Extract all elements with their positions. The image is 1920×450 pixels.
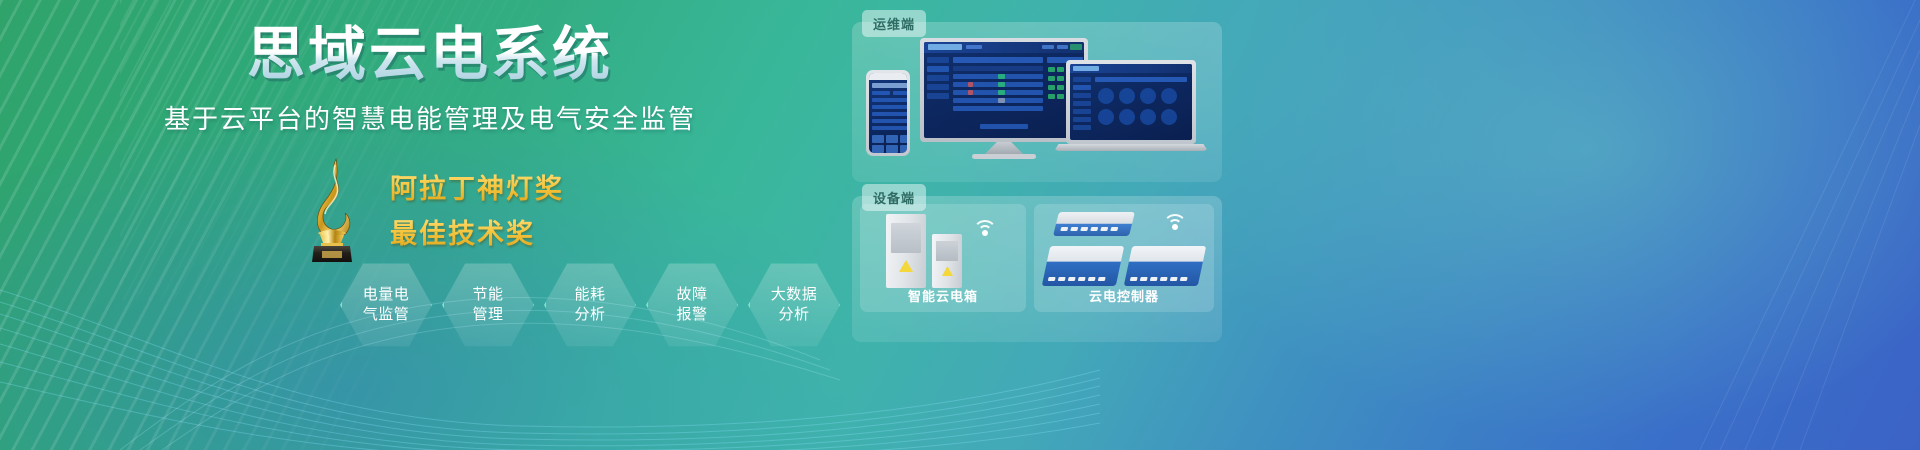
feature-3-line2: 分析 [574,306,605,323]
laptop-base [1054,144,1208,151]
feature-hexagon-3-label: 能耗 分析 [574,285,605,326]
award-line-2: 最佳技术奖 [390,212,564,251]
feature-hexagon-3[interactable]: 能耗 分析 [544,262,636,348]
monitor-mockup [920,38,1088,142]
feature-3-line1: 能耗 [574,286,605,303]
feature-4-line2: 报警 [676,306,707,323]
feature-1-line1: 电量电 [363,286,410,303]
laptop-mockup [1066,60,1196,144]
panel-device-terminal: 设备端 智能云电箱 [852,196,1222,342]
cloud-controller-unit-1 [1042,246,1125,286]
feature-hexagon-2[interactable]: 节能 管理 [442,262,534,348]
background-glow-top-right [1140,0,1920,450]
device-card-cloud-controller: 云电控制器 [1034,204,1214,312]
award-block: 阿拉丁神灯奖 最佳技术奖 [296,154,564,264]
banner-right-content: 运维端 [852,22,1224,356]
monitor-base [972,154,1036,159]
feature-hexagon-5-label: 大数据 分析 [771,285,818,326]
feature-5-line1: 大数据 [771,286,818,303]
award-text-block: 阿拉丁神灯奖 最佳技术奖 [390,167,564,251]
trophy-icon [296,155,368,263]
feature-hexagon-row: 电量电 气监管 节能 管理 能耗 分析 故障 报警 大数据 分析 [340,262,840,348]
smart-cloud-box-cabinet-small [932,234,962,288]
feature-hexagon-4[interactable]: 故障 报警 [646,262,738,348]
panel-operations-terminal: 运维端 [852,22,1222,182]
feature-2-line2: 管理 [472,306,503,323]
device-label-smart-cloud-box: 智能云电箱 [860,286,1026,305]
page-subtitle: 基于云平台的智慧电能管理及电气安全监管 [164,99,696,136]
cloud-controller-switch [1053,212,1135,236]
device-card-smart-cloud-box: 智能云电箱 [860,204,1026,312]
feature-5-line2: 分析 [778,306,809,323]
feature-1-line2: 气监管 [363,306,410,323]
feature-2-line1: 节能 [472,286,503,303]
award-line-1: 阿拉丁神灯奖 [390,167,564,206]
feature-4-line1: 故障 [676,286,707,303]
decorative-right-lines [1400,0,1920,450]
page-title: 思域云电系统 [247,24,613,85]
feature-hexagon-1[interactable]: 电量电 气监管 [340,262,432,348]
device-label-cloud-controller: 云电控制器 [1034,286,1214,305]
feature-hexagon-2-label: 节能 管理 [472,285,503,326]
banner-left-content: 思域云电系统 基于云平台的智慧电能管理及电气安全监管 [0,0,860,450]
wifi-signal-icon-controller [1162,212,1188,232]
cloud-controller-unit-2 [1124,246,1207,286]
smart-cloud-box-cabinet-large [886,214,926,288]
feature-hexagon-4-label: 故障 报警 [676,285,707,326]
wifi-signal-icon-box [972,218,998,238]
feature-hexagon-1-label: 电量电 气监管 [363,285,410,326]
phone-mockup [866,70,910,156]
feature-hexagon-5[interactable]: 大数据 分析 [748,262,840,348]
